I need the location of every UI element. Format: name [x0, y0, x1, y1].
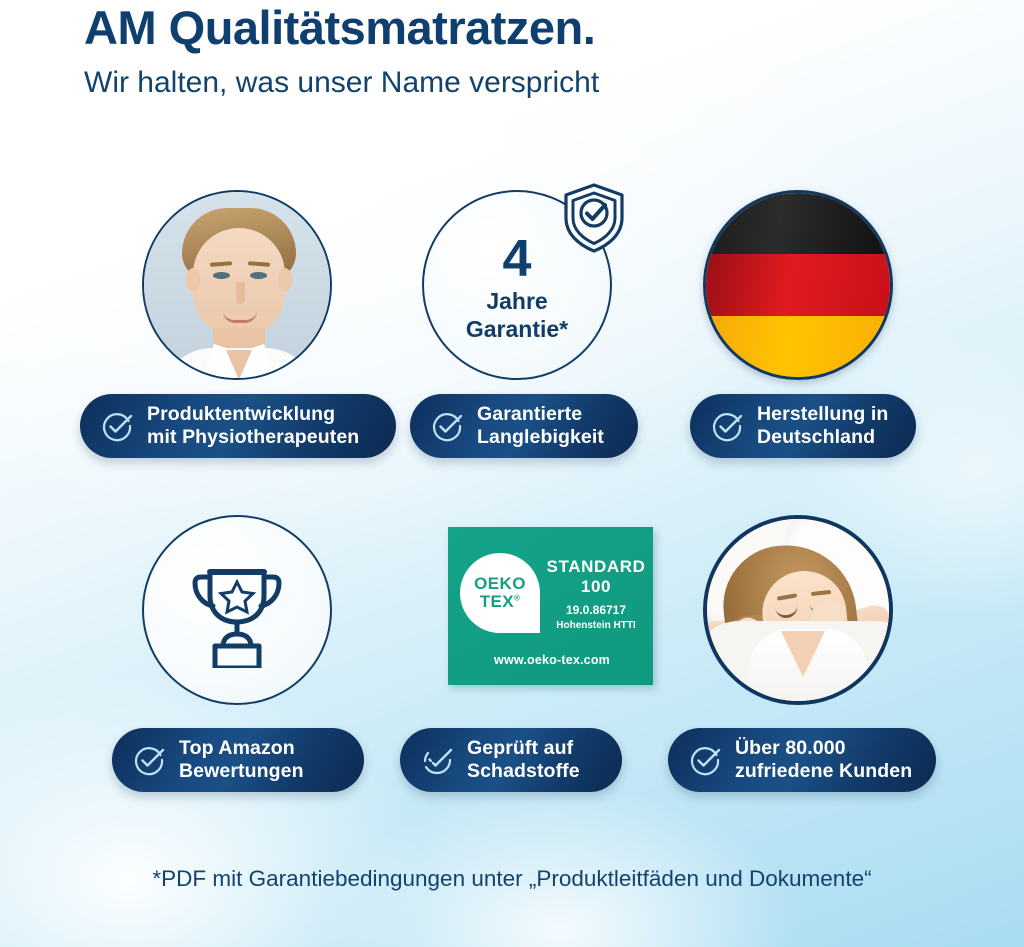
pill-label: Produktentwicklung mit Physiotherapeuten: [147, 403, 359, 449]
pill-label-line1: Geprüft auf: [467, 737, 580, 760]
feature-satisfied-customers: [668, 515, 974, 705]
oeko-institute: Hohenstein HTTI: [544, 620, 648, 632]
pill-label-line1: Top Amazon: [179, 737, 304, 760]
avatar-woman: [703, 515, 893, 705]
pill-satisfied-customers[interactable]: Über 80.000 zufriedene Kunden: [668, 728, 936, 792]
flag-band-gold: [706, 316, 890, 377]
oeko-tex-label: OEKO TEX® STANDARD 100 19.0.86717 Hohens…: [448, 527, 653, 685]
pill-label-line1: Produktentwicklung: [147, 403, 359, 426]
media-photo-woman-sleeping: [703, 515, 893, 705]
page-subtitle: Wir halten, was unser Name verspricht: [84, 66, 599, 101]
oeko-brand-line2: TEX®: [480, 593, 521, 611]
feature-product-development: [80, 190, 386, 380]
pill-label-line1: Garantierte: [477, 403, 604, 426]
header-block: AM Qualitätsmatratzen. Wir halten, was u…: [84, 2, 599, 100]
infographic-canvas: AM Qualitätsmatratzen. Wir halten, was u…: [0, 0, 1024, 947]
feature-top-amazon-reviews: [80, 515, 386, 705]
pill-label-line2: zufriedene Kunden: [735, 760, 912, 783]
media-trophy-circle: [142, 515, 332, 705]
pill-label-line1: Über 80.000: [735, 737, 912, 760]
oeko-standard-text: STANDARD 100: [544, 557, 648, 597]
pill-label-line2: Deutschland: [757, 426, 888, 449]
pill-label: Über 80.000 zufriedene Kunden: [735, 737, 912, 783]
avatar-man: [142, 190, 332, 380]
oeko-tex-logo-drop: OEKO TEX®: [460, 553, 540, 633]
trophy-star-icon: [179, 552, 295, 668]
guarantee-label: Garantie*: [466, 315, 568, 343]
footnote-text: *PDF mit Garantiebedingungen unter „Prod…: [0, 866, 1024, 892]
feature-oeko-tex: OEKO TEX® STANDARD 100 19.0.86717 Hohens…: [380, 515, 686, 705]
trophy-badge: [142, 515, 332, 705]
guarantee-years-label: Jahre: [486, 287, 547, 315]
media-guarantee-circle: 4 Jahre Garantie*: [422, 190, 612, 380]
german-flag-icon: [703, 190, 893, 380]
feature-guarantee: 4 Jahre Garantie*: [380, 190, 686, 380]
portrait-woman-illustration: [707, 519, 889, 701]
pill-label: Herstellung in Deutschland: [757, 403, 888, 449]
oeko-url: www.oeko-tex.com: [462, 653, 642, 667]
pill-made-in-germany[interactable]: Herstellung in Deutschland: [690, 394, 916, 458]
oeko-standard-line2: 100: [544, 577, 648, 597]
media-german-flag-circle: [703, 190, 893, 380]
check-circle-icon: [688, 743, 722, 777]
media-oeko-tex-label: OEKO TEX® STANDARD 100 19.0.86717 Hohens…: [422, 515, 612, 705]
pill-label: Garantierte Langlebigkeit: [477, 403, 604, 449]
pill-label-line2: mit Physiotherapeuten: [147, 426, 359, 449]
pill-guarantee[interactable]: Garantierte Langlebigkeit: [410, 394, 638, 458]
pill-label: Top Amazon Bewertungen: [179, 737, 304, 783]
check-circle-dashed-icon: [420, 743, 454, 777]
oeko-brand-line1: OEKO: [474, 575, 526, 593]
portrait-man-illustration: [144, 192, 330, 378]
pill-label-line2: Langlebigkeit: [477, 426, 604, 449]
pill-label-line1: Herstellung in: [757, 403, 888, 426]
feature-made-in-germany: [668, 190, 974, 380]
guarantee-years-number: 4: [503, 233, 532, 285]
oeko-standard-line1: STANDARD: [544, 557, 648, 577]
shield-check-icon: [562, 182, 626, 254]
oeko-certificate-number: 19.0.86717: [544, 603, 648, 618]
pill-tested-harmful-substances[interactable]: Geprüft auf Schadstoffe: [400, 728, 622, 792]
page-title: AM Qualitätsmatratzen.: [84, 2, 599, 55]
pill-label-line2: Schadstoffe: [467, 760, 580, 783]
pill-label: Geprüft auf Schadstoffe: [467, 737, 580, 783]
check-circle-icon: [710, 409, 744, 443]
check-circle-icon: [132, 743, 166, 777]
check-circle-icon: [430, 409, 464, 443]
flag-band-black: [706, 193, 890, 254]
check-circle-icon: [100, 409, 134, 443]
media-photo-man-portrait: [142, 190, 332, 380]
pill-label-line2: Bewertungen: [179, 760, 304, 783]
registered-mark: ®: [514, 593, 520, 602]
flag-band-red: [706, 254, 890, 315]
pill-product-development[interactable]: Produktentwicklung mit Physiotherapeuten: [80, 394, 396, 458]
pill-top-amazon-reviews[interactable]: Top Amazon Bewertungen: [112, 728, 364, 792]
